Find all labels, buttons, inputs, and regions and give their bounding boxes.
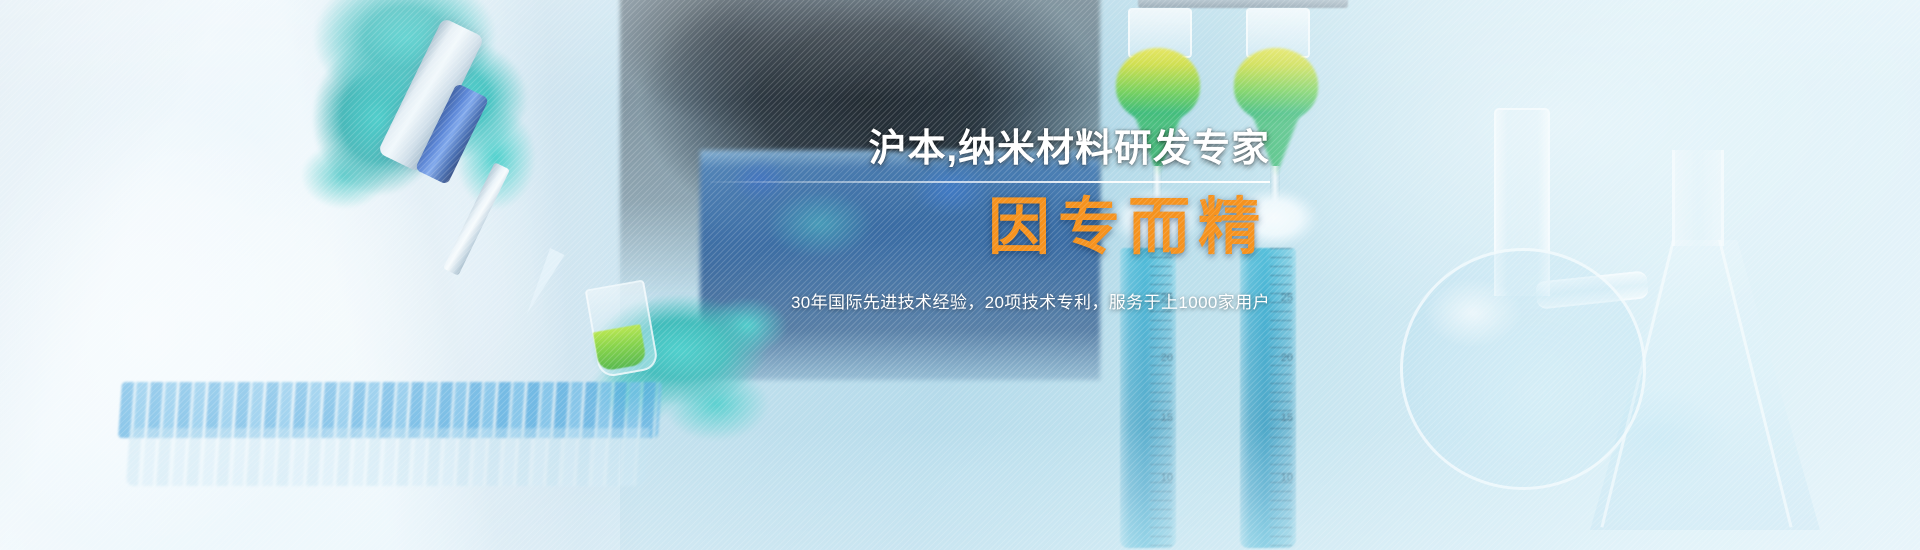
banner-headline: 沪本,纳米材料研发专家 [710,130,1270,168]
headline-divider [710,181,1270,183]
copy-inner: 沪本,纳米材料研发专家 因专而精 30年国际先进技术经验，20项技术专利，服务于… [710,130,1270,313]
banner-subtitle: 30年国际先进技术经验，20项技术专利，服务于上1000家用户 [710,293,1270,313]
hero-banner: 25 20 15 10 25 20 15 10 [0,0,1920,550]
banner-slogan: 因专而精 [710,197,1270,259]
